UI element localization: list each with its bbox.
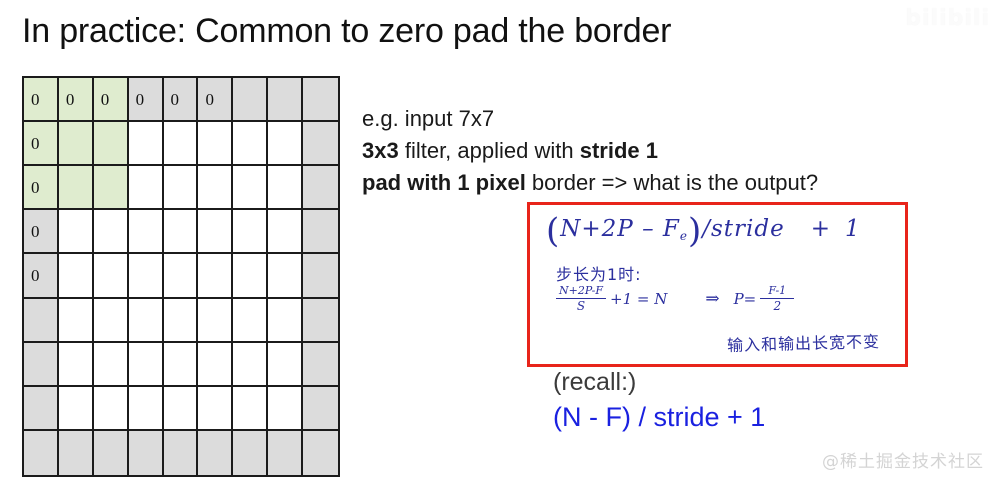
grid-cell-r9-c1 — [24, 431, 59, 475]
grid-cell-r2-c7 — [233, 122, 268, 166]
grid-cell-r7-c1 — [24, 343, 59, 387]
handwritten-output-formula: (N+2P – Fe)/stride+1 — [546, 211, 861, 251]
grid-cell-r9-c6 — [198, 431, 233, 475]
fraction-right: F-1 2 — [760, 285, 794, 313]
grid-cell-r9-c3 — [94, 431, 129, 475]
grid-cell-r1-c3: 0 — [94, 78, 129, 122]
grid-cell-r3-c1: 0 — [24, 166, 59, 210]
grid-cell-r7-c9 — [303, 343, 338, 387]
problem-statement: e.g. input 7x7 3x3 filter, applied with … — [362, 103, 962, 199]
grid-cell-r2-c6 — [198, 122, 233, 166]
grid-cell-r6-c2 — [59, 299, 94, 343]
close-paren: ) — [688, 211, 702, 251]
grid-cell-r6-c1 — [24, 299, 59, 343]
grid-cell-r6-c9 — [303, 299, 338, 343]
problem-line-input: e.g. input 7x7 — [362, 103, 962, 135]
grid-cell-r8-c2 — [59, 387, 94, 431]
grid-cell-r6-c4 — [129, 299, 164, 343]
grid-cell-r3-c9 — [303, 166, 338, 210]
filter-size-value: 3x3 — [362, 138, 399, 163]
grid-cell-r2-c1: 0 — [24, 122, 59, 166]
juejin-watermark: @稀土掘金技术社区 — [822, 447, 984, 472]
grid-cell-r5-c1: 0 — [24, 254, 59, 298]
grid-cell-r4-c7 — [233, 210, 268, 254]
formula-subscript: e — [680, 229, 688, 243]
grid-cell-r5-c6 — [198, 254, 233, 298]
grid-cell-r6-c5 — [164, 299, 199, 343]
handwritten-annotation-box: (N+2P – Fe)/stride+1 步长为1时: N+2P-F S +1 … — [527, 202, 908, 367]
handwritten-derivation: N+2P-F S +1 = N ⇒ P= F-1 2 — [556, 285, 794, 313]
grid-cell-r1-c9 — [303, 78, 338, 122]
grid-cell-r3-c4 — [129, 166, 164, 210]
grid-cell-r4-c4 — [129, 210, 164, 254]
grid-cell-r4-c1: 0 — [24, 210, 59, 254]
filter-line-mid: filter, applied with — [399, 138, 580, 163]
grid-cell-r9-c5 — [164, 431, 199, 475]
grid-cell-r5-c8 — [268, 254, 303, 298]
pad-line-rest: border => what is the output? — [526, 170, 818, 195]
grid-cell-r5-c5 — [164, 254, 199, 298]
grid-cell-r4-c5 — [164, 210, 199, 254]
grid-cell-r9-c9 — [303, 431, 338, 475]
grid-cell-r4-c8 — [268, 210, 303, 254]
grid-cell-r8-c6 — [198, 387, 233, 431]
grid-cell-r8-c5 — [164, 387, 199, 431]
fraction-left-denominator: S — [577, 300, 585, 313]
fraction-right-numerator: F-1 — [765, 285, 789, 297]
bilibili-watermark: bilibili — [905, 6, 990, 31]
grid-cell-r5-c7 — [233, 254, 268, 298]
grid-cell-r9-c4 — [129, 431, 164, 475]
grid-cell-r6-c3 — [94, 299, 129, 343]
grid-cell-r5-c2 — [59, 254, 94, 298]
grid-cell-r8-c3 — [94, 387, 129, 431]
stride-value: stride 1 — [580, 138, 658, 163]
grid-cell-r8-c1 — [24, 387, 59, 431]
grid-cell-r2-c9 — [303, 122, 338, 166]
grid-cell-r2-c8 — [268, 122, 303, 166]
grid-cell-r4-c6 — [198, 210, 233, 254]
grid-cell-r7-c6 — [198, 343, 233, 387]
pad-value: pad with 1 pixel — [362, 170, 526, 195]
grid-cell-r1-c2: 0 — [59, 78, 94, 122]
grid-cell-r7-c8 — [268, 343, 303, 387]
p-label: P= — [734, 290, 757, 308]
fraction-right-denominator: 2 — [773, 300, 781, 313]
implies-arrow-icon: ⇒ — [705, 289, 719, 309]
grid-cell-r8-c8 — [268, 387, 303, 431]
recall-label: (recall:) — [553, 368, 636, 397]
derivation-tail: +1 = N — [610, 290, 667, 308]
grid-cell-r9-c8 — [268, 431, 303, 475]
fraction-left-numerator: N+2P-F — [556, 285, 606, 297]
grid-cell-r1-c7 — [233, 78, 268, 122]
formula-body: N+2P – F — [560, 216, 680, 242]
grid-cells: 0000000000 — [24, 78, 338, 475]
grid-cell-r2-c3 — [94, 122, 129, 166]
grid-cell-r7-c7 — [233, 343, 268, 387]
grid-cell-r6-c6 — [198, 299, 233, 343]
grid-cell-r9-c7 — [233, 431, 268, 475]
grid-cell-r1-c6: 0 — [198, 78, 233, 122]
grid-cell-r6-c8 — [268, 299, 303, 343]
grid-cell-r1-c1: 0 — [24, 78, 59, 122]
grid-cell-r8-c7 — [233, 387, 268, 431]
grid-cell-r3-c5 — [164, 166, 199, 210]
grid-cell-r4-c3 — [94, 210, 129, 254]
grid-cell-r8-c4 — [129, 387, 164, 431]
grid-cell-r8-c9 — [303, 387, 338, 431]
grid-cell-r7-c3 — [94, 343, 129, 387]
grid-cell-r3-c6 — [198, 166, 233, 210]
grid-cell-r5-c3 — [94, 254, 129, 298]
page-title: In practice: Common to zero pad the bord… — [22, 10, 671, 52]
grid-cell-r4-c9 — [303, 210, 338, 254]
grid-cell-r1-c5: 0 — [164, 78, 199, 122]
recall-formula: (N - F) / stride + 1 — [553, 402, 765, 433]
grid-cell-r7-c5 — [164, 343, 199, 387]
grid-cell-r7-c2 — [59, 343, 94, 387]
grid-cell-r5-c9 — [303, 254, 338, 298]
grid-cell-r6-c7 — [233, 299, 268, 343]
grid-cell-r1-c4: 0 — [129, 78, 164, 122]
fraction-left: N+2P-F S — [556, 285, 606, 313]
grid-cell-r7-c4 — [129, 343, 164, 387]
grid-cell-r3-c7 — [233, 166, 268, 210]
grid-cell-r3-c2 — [59, 166, 94, 210]
handwritten-note-size-preserved: 输入和输出长宽不变 — [727, 328, 881, 356]
grid-cell-r2-c5 — [164, 122, 199, 166]
grid-cell-r2-c4 — [129, 122, 164, 166]
padded-input-grid: 0000000000 — [22, 76, 340, 477]
grid-cell-r1-c8 — [268, 78, 303, 122]
formula-one: 1 — [845, 216, 861, 242]
open-paren: ( — [546, 211, 560, 251]
formula-tail: /stride — [702, 216, 784, 242]
formula-plus: + — [811, 216, 831, 242]
grid-cell-r3-c3 — [94, 166, 129, 210]
grid-cell-r3-c8 — [268, 166, 303, 210]
handwritten-note-stride-one: 步长为1时: — [556, 261, 642, 285]
grid-cell-r4-c2 — [59, 210, 94, 254]
grid-cell-r5-c4 — [129, 254, 164, 298]
problem-line-filter: 3x3 filter, applied with stride 1 — [362, 135, 962, 167]
slide-canvas: In practice: Common to zero pad the bord… — [0, 0, 996, 484]
problem-line-pad: pad with 1 pixel border => what is the o… — [362, 167, 962, 199]
grid-cell-r2-c2 — [59, 122, 94, 166]
grid-cell-r9-c2 — [59, 431, 94, 475]
